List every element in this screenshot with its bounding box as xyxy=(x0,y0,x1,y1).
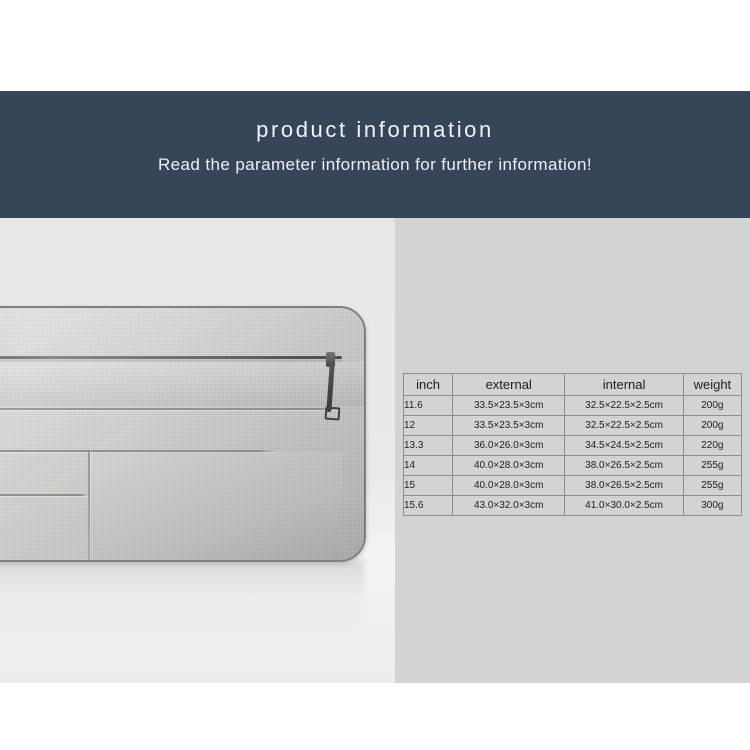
cell-internal: 32.5×22.5×2.5cm xyxy=(565,416,683,436)
cell-inch: 15 xyxy=(404,476,453,496)
cell-external: 33.5×23.5×3cm xyxy=(453,416,565,436)
table-header-row: inch external internal weight xyxy=(404,374,742,396)
cell-weight: 200g xyxy=(683,416,741,436)
cell-inch: 14 xyxy=(404,456,453,476)
cell-external: 40.0×28.0×3cm xyxy=(453,476,565,496)
table-row: 15.6 43.0×32.0×3cm 41.0×30.0×2.5cm 300g xyxy=(404,496,742,516)
product-information-page: product information Read the parameter i… xyxy=(0,0,750,750)
table-row: 12 33.5×23.5×3cm 32.5×22.5×2.5cm 200g xyxy=(404,416,742,436)
cell-inch: 15.6 xyxy=(404,496,453,516)
cell-weight: 255g xyxy=(683,476,741,496)
table-row: 13.3 36.0×26.0×3cm 34.5×24.5×2.5cm 220g xyxy=(404,436,742,456)
cell-internal: 41.0×30.0×2.5cm xyxy=(565,496,683,516)
column-header-inch: inch xyxy=(404,374,453,396)
sleeve-highlight xyxy=(0,308,364,560)
cell-weight: 300g xyxy=(683,496,741,516)
cell-weight: 200g xyxy=(683,396,741,416)
specification-table: inch external internal weight 11.6 33.5×… xyxy=(403,373,742,516)
cell-internal: 38.0×26.5×2.5cm xyxy=(565,476,683,496)
product-photo xyxy=(0,222,395,683)
cell-external: 43.0×32.0×3cm xyxy=(453,496,565,516)
cell-inch: 11.6 xyxy=(404,396,453,416)
cell-internal: 32.5×22.5×2.5cm xyxy=(565,396,683,416)
page-title: product information xyxy=(0,117,750,143)
table-body: 11.6 33.5×23.5×3cm 32.5×22.5×2.5cm 200g … xyxy=(404,396,742,516)
product-reflection xyxy=(0,560,364,646)
banner: product information Read the parameter i… xyxy=(0,91,750,218)
cell-weight: 255g xyxy=(683,456,741,476)
cell-internal: 38.0×26.5×2.5cm xyxy=(565,456,683,476)
table-header: inch external internal weight xyxy=(404,374,742,396)
page-subtitle: Read the parameter information for furth… xyxy=(0,155,750,175)
column-header-internal: internal xyxy=(565,374,683,396)
cell-inch: 12 xyxy=(404,416,453,436)
column-header-weight: weight xyxy=(683,374,741,396)
table-row: 15 40.0×28.0×3cm 38.0×26.5×2.5cm 255g xyxy=(404,476,742,496)
table-row: 14 40.0×28.0×3cm 38.0×26.5×2.5cm 255g xyxy=(404,456,742,476)
cell-weight: 220g xyxy=(683,436,741,456)
column-header-external: external xyxy=(453,374,565,396)
cell-external: 36.0×26.0×3cm xyxy=(453,436,565,456)
cell-inch: 13.3 xyxy=(404,436,453,456)
cell-internal: 34.5×24.5×2.5cm xyxy=(565,436,683,456)
cell-external: 33.5×23.5×3cm xyxy=(453,396,565,416)
table-row: 11.6 33.5×23.5×3cm 32.5×22.5×2.5cm 200g xyxy=(404,396,742,416)
cell-external: 40.0×28.0×3cm xyxy=(453,456,565,476)
laptop-sleeve-body xyxy=(0,306,366,562)
